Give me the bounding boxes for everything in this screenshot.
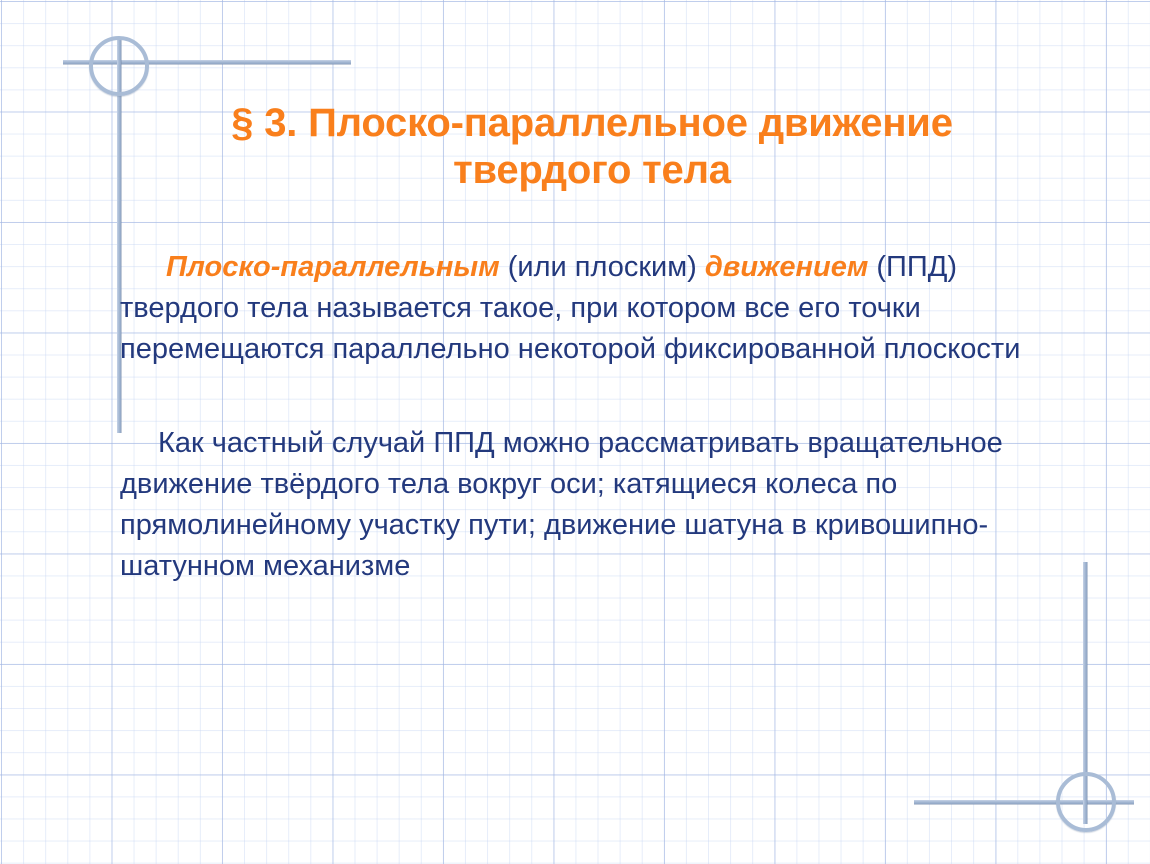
slide-content: § 3. Плоско-параллельное движение твердо… xyxy=(0,0,1150,864)
slide-canvas: § 3. Плоско-параллельное движение твердо… xyxy=(0,0,1150,864)
paragraph-definition: Плоско-параллельным (или плоским) движен… xyxy=(120,247,1055,371)
accent-term-2: движением xyxy=(705,251,868,283)
title-line-1: § 3. Плоско-параллельное движение xyxy=(118,100,1066,147)
page-title: § 3. Плоско-параллельное движение твердо… xyxy=(118,100,1066,194)
paragraph-1-mid: (или плоским) xyxy=(500,251,705,283)
paragraph-examples: Как частный случай ППД можно рассматрива… xyxy=(120,423,1055,588)
body-text: Плоско-параллельным (или плоским) движен… xyxy=(120,247,1055,587)
title-line-2: твердого тела xyxy=(118,147,1066,194)
accent-term-1: Плоско-параллельным xyxy=(166,251,500,283)
